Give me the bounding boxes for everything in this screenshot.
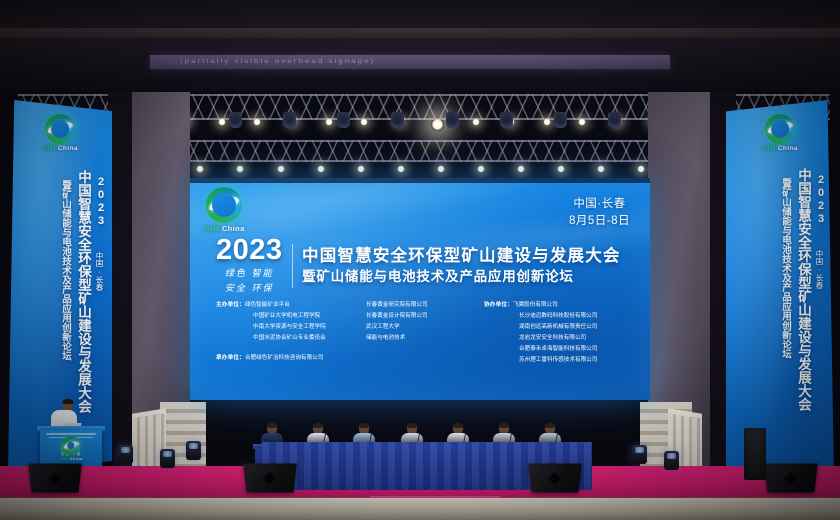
conference-stage-photo: …(partially visible overhead signage) GI… — [0, 0, 840, 520]
coorg-item-0: 飞翼股份有限公司 — [513, 302, 558, 308]
gim-logo-sub: China — [222, 224, 245, 233]
coorg-item-3: 龙岩龙安安全科技有限公司 — [484, 333, 632, 344]
lens-icon — [189, 443, 198, 449]
panelist-hair — [267, 423, 277, 428]
truss-moving-head — [391, 112, 404, 128]
gim-logo-main: GIM — [42, 145, 55, 152]
gim-logo-banner-right: GIM China — [762, 114, 798, 152]
gim-ring-icon — [62, 436, 81, 455]
host-item-2: 中南大学资源与安全工程学院 — [216, 322, 366, 333]
host-item-1: 中国矿业大学机电工程学院 — [216, 311, 366, 322]
side-banner-right: GIM China 2023 中国·长春 中国智慧安全环保型矿山建设与发展大会 … — [726, 100, 834, 480]
host2-item-0: 长春黄金研究院有限公司 — [366, 300, 484, 311]
panelist-hair — [359, 423, 369, 428]
moving-head-light-left-2 — [160, 449, 175, 468]
host-label: 主办单位： — [216, 302, 245, 308]
host2-item-2: 武汉工程大学 — [366, 322, 484, 333]
stage-monitor-4 — [764, 464, 818, 493]
pa-speaker-stack — [744, 428, 766, 480]
lens-icon — [163, 451, 172, 457]
gim-ring-icon — [206, 187, 242, 223]
panelist-hair — [499, 423, 509, 428]
gim-swoosh-icon — [62, 440, 79, 450]
title-divider — [292, 244, 294, 288]
gim-logo-podium: GIM China — [59, 436, 82, 461]
coorg-label-row: 协办单位：飞翼股份有限公司 — [484, 300, 632, 311]
screen-year-block: 2023 绿色 智能 安全 环保 — [216, 236, 283, 295]
stage-lamp — [236, 165, 244, 173]
organizer-column-hosts: 主办单位：绿色智能矿业平台 中国矿业大学机电工程学院 中南大学资源与安全工程学院… — [216, 300, 366, 365]
undertaker-label: 承办单位： — [216, 355, 245, 361]
truss-moving-head — [229, 112, 242, 128]
truss-moving-head — [608, 112, 621, 128]
banner-right-year: 2023 — [815, 174, 826, 226]
coorg-label: 协办单位： — [484, 302, 513, 308]
lens-icon — [121, 447, 130, 453]
hall-ceiling — [0, 0, 840, 92]
undertaker-name: 合肥绿色矿冶科技咨询有限公司 — [245, 355, 323, 361]
stage-lamp — [357, 165, 365, 173]
host-label-row: 主办单位：绿色智能矿业平台 — [216, 300, 366, 311]
banner-right-title-sub: 暨矿山储能与电池技术及产品应用创新论坛 — [780, 178, 790, 464]
moving-head-light-right — [632, 445, 647, 464]
host2-item-1: 长春黄金设计院有限公司 — [366, 311, 484, 322]
screen-calligraphy-1: 绿色 智能 — [216, 268, 283, 280]
lens-icon — [635, 447, 644, 453]
gim-logo-banner-left: GIM China — [42, 114, 78, 152]
org-spacer — [216, 344, 366, 353]
gim-swoosh-icon — [208, 194, 241, 213]
organizer-block: 主办单位：绿色智能矿业平台 中国矿业大学机电工程学院 中南大学资源与安全工程学院… — [216, 300, 632, 365]
panelist-hair — [545, 423, 555, 428]
organizer-column-hosts-2: 长春黄金研究院有限公司 长春黄金设计院有限公司 武汉工程大学 储能与电池技术 — [366, 300, 484, 365]
panelist-hair — [407, 423, 417, 428]
screen-dates: 8月5日-8日 — [569, 213, 630, 230]
truss-moving-head — [446, 112, 459, 128]
truss-moving-head — [554, 112, 567, 128]
coorg-item-1: 长沙迪迈数码科技股份有限公司 — [484, 311, 632, 322]
screen-location-block: 中国·长春 8月5日-8日 — [569, 196, 630, 229]
undertaker-row: 承办单位：合肥绿色矿冶科技咨询有限公司 — [216, 353, 366, 364]
panelist-hair — [453, 423, 463, 428]
stage-monitor-3 — [528, 464, 582, 493]
host-item-0: 绿色智能矿业平台 — [245, 302, 290, 308]
gim-logo-sub: China — [70, 456, 83, 461]
moving-head-light-right-2 — [664, 451, 679, 470]
gim-logo-main: GIM — [204, 224, 219, 233]
stage-lamp — [277, 165, 285, 173]
host-item-3: 中国水泥协会矿山专业委员会 — [216, 333, 366, 344]
gim-swoosh-icon — [766, 120, 793, 136]
gim-logo-sub: China — [58, 145, 78, 152]
banner-right-title-main: 中国智慧安全环保型矿山建设与发展大会 — [796, 168, 810, 464]
podium-title-line — [46, 433, 96, 435]
stage-lamp — [317, 165, 325, 173]
moving-head-row — [120, 112, 730, 128]
speaker-hair — [62, 399, 73, 404]
screen-title-sub: 暨矿山储能与电池技术及产品应用创新论坛 — [302, 268, 634, 286]
screen-title-main: 中国智慧安全环保型矿山建设与发展大会 — [302, 246, 634, 267]
gim-logo-main: GIM — [59, 456, 68, 461]
truss-moving-head — [500, 112, 513, 128]
gim-ring-icon — [765, 114, 795, 144]
stage-lamp — [397, 165, 405, 173]
organizer-column-coorg: 协办单位：飞翼股份有限公司 长沙迪迈数码科技股份有限公司 湖南创远高新机械有限责… — [484, 300, 632, 365]
screen-top-bezel — [190, 178, 650, 183]
lens-icon — [667, 453, 676, 459]
screen-title-block: 中国智慧安全环保型矿山建设与发展大会 暨矿山储能与电池技术及产品应用创新论坛 — [302, 246, 634, 286]
front-step — [0, 498, 840, 520]
banner-left-year: 2023 — [95, 176, 106, 228]
screen-city: 中国·长春 — [569, 196, 630, 213]
coorg-item-2: 湖南创远高新机械有限责任公司 — [484, 322, 632, 333]
stage-monitor-1 — [28, 464, 82, 493]
stage-lamp — [437, 165, 445, 173]
screen-year: 2023 — [216, 236, 283, 265]
stage-lamp — [196, 165, 204, 173]
coorg-item-5: 苏州理工雷科传感技术有限公司 — [484, 355, 632, 366]
stage-lamp — [597, 165, 605, 173]
coorg-item-4: 合肥泰禾卓海智能科技有限公司 — [484, 344, 632, 355]
main-led-screen: GIM China 中国·长春 8月5日-8日 2023 绿色 智能 安全 环保… — [190, 178, 650, 400]
stage-lamp — [557, 165, 565, 173]
stage-lamp — [517, 165, 525, 173]
gim-swoosh-icon — [46, 120, 73, 136]
stage-monitor-2 — [243, 464, 297, 493]
gim-logo-sub: China — [778, 145, 798, 152]
gim-logo-screen: GIM China — [204, 187, 245, 233]
host2-item-3: 储能与电池技术 — [366, 333, 484, 344]
screen-calligraphy-2: 安全 环保 — [216, 283, 283, 295]
stage-lamp — [477, 165, 485, 173]
screen-title-row: 2023 绿色 智能 安全 环保 中国智慧安全环保型矿山建设与发展大会 暨矿山储… — [216, 236, 634, 295]
stage-lamp — [637, 165, 645, 173]
gim-logo-main: GIM — [762, 145, 775, 152]
truss-moving-head — [337, 112, 350, 128]
truss-moving-head — [283, 112, 296, 128]
ceiling-strip — [0, 28, 840, 38]
banner-left-city: 中国·长春 — [95, 252, 103, 291]
moving-head-light-left-3 — [186, 441, 201, 460]
overhead-sign-text: …(partially visible overhead signage) — [170, 57, 640, 67]
banner-left-title-main: 中国智慧安全环保型矿山建设与发展大会 — [76, 170, 90, 460]
moving-head-light-left — [118, 445, 133, 464]
panelist-hair — [313, 423, 323, 428]
gim-ring-icon — [45, 114, 75, 144]
banner-right-city: 中国·长春 — [815, 250, 823, 289]
